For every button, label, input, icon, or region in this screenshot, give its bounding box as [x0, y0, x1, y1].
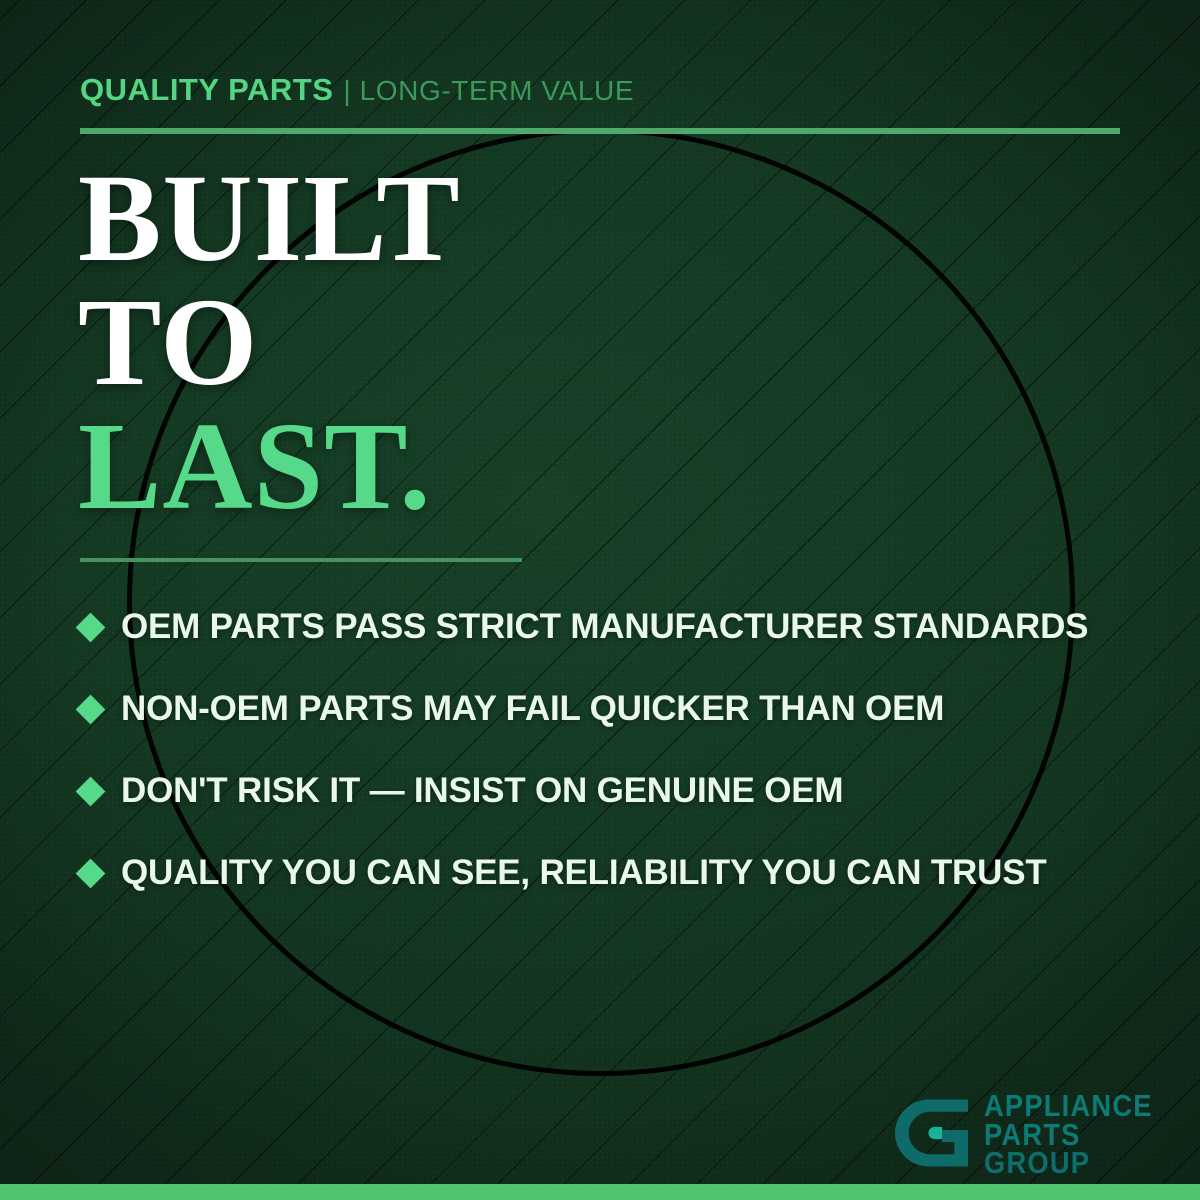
diamond-bullet-icon [76, 858, 106, 888]
header-divider-rule [80, 128, 1120, 134]
list-item: QUALITY YOU CAN SEE, RELIABILITY YOU CAN… [80, 832, 1150, 914]
eyebrow-subtitle-label: | LONG-TERM VALUE [343, 75, 634, 107]
poster-canvas: QUALITY PARTS | LONG-TERM VALUE BUILT TO… [0, 0, 1200, 1200]
list-item-label: OEM PARTS PASS STRICT MANUFACTURER STAND… [121, 607, 1088, 647]
list-item: DON'T RISK IT — INSIST ON GENUINE OEM [80, 750, 1150, 832]
benefits-list: OEM PARTS PASS STRICT MANUFACTURER STAND… [80, 586, 1150, 914]
appliance-parts-group-g-icon [895, 1095, 971, 1171]
headline-line-3: LAST. [78, 406, 461, 530]
eyebrow-header: QUALITY PARTS | LONG-TERM VALUE [80, 72, 634, 108]
list-item: OEM PARTS PASS STRICT MANUFACTURER STAND… [80, 586, 1150, 668]
brand-logo-wordmark: APPLIANCE PARTS GROUP [984, 1092, 1176, 1178]
bottom-accent-strip [0, 1184, 1200, 1200]
diamond-bullet-icon [76, 776, 106, 806]
list-item: NON-OEM PARTS MAY FAIL QUICKER THAN OEM [80, 668, 1150, 750]
list-item-label: NON-OEM PARTS MAY FAIL QUICKER THAN OEM [121, 689, 944, 729]
headline-divider-rule [80, 558, 522, 562]
headline-line-2: TO [78, 282, 461, 406]
list-item-label: DON'T RISK IT — INSIST ON GENUINE OEM [121, 771, 843, 811]
headline-line-1: BUILT [78, 158, 461, 282]
brand-logo: APPLIANCE PARTS GROUP [895, 1092, 1176, 1178]
eyebrow-main-label: QUALITY PARTS [80, 72, 333, 108]
logo-word-group: GROUP [984, 1149, 1153, 1178]
diamond-bullet-icon [76, 612, 106, 642]
headline-block: BUILT TO LAST. [78, 158, 461, 529]
list-item-label: QUALITY YOU CAN SEE, RELIABILITY YOU CAN… [121, 853, 1047, 893]
poster-content: QUALITY PARTS | LONG-TERM VALUE BUILT TO… [0, 0, 1200, 1200]
diamond-bullet-icon [76, 694, 106, 724]
